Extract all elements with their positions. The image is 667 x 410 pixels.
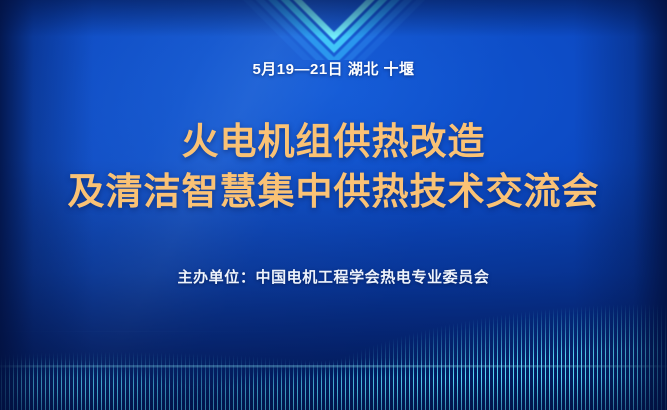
- event-date-location: 5月19—21日 湖北 十堰: [252, 58, 414, 79]
- banner-content: 5月19—21日 湖北 十堰 火电机组供热改造 及清洁智慧集中供热技术交流会 主…: [0, 0, 667, 410]
- event-organizer: 主办单位：中国电机工程学会热电专业委员会: [177, 266, 489, 287]
- conference-banner: 5月19—21日 湖北 十堰 火电机组供热改造 及清洁智慧集中供热技术交流会 主…: [0, 0, 667, 410]
- event-title-line-2: 及清洁智慧集中供热技术交流会: [68, 167, 600, 217]
- event-title: 火电机组供热改造 及清洁智慧集中供热技术交流会: [68, 117, 600, 217]
- event-title-line-1: 火电机组供热改造: [68, 117, 600, 167]
